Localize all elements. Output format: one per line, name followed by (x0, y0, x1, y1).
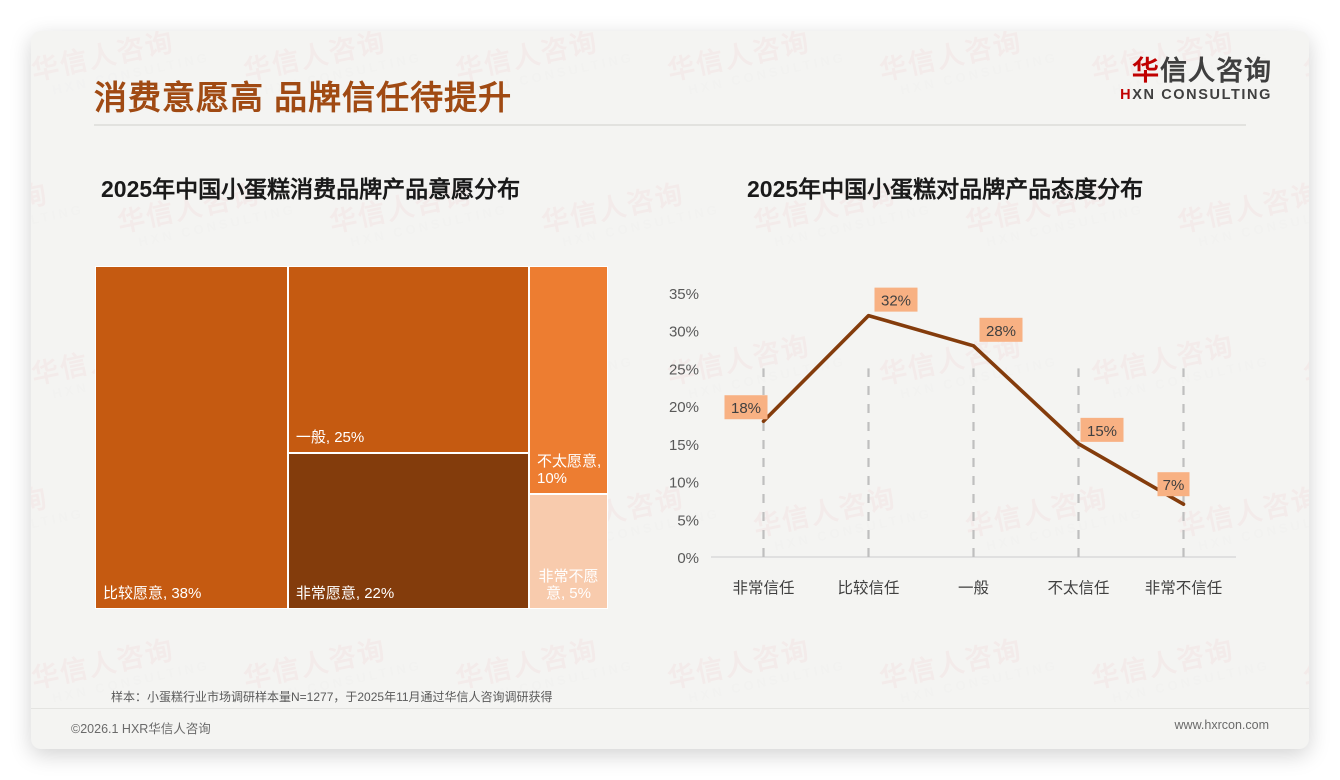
watermark-text: 华信人咨询HXN CONSULTING (1300, 31, 1309, 101)
watermark-text: 华信人咨询HXN CONSULTING (1174, 165, 1309, 253)
treemap-cell-label: 非常不愿意, 5% (534, 568, 603, 603)
data-label: 18% (731, 400, 761, 417)
line-chart: 0%5%10%15%20%25%30%35%18%32%28%15%7%非常信任… (639, 263, 1264, 619)
y-axis-tick-label: 30% (669, 324, 699, 341)
footer-website: www.hxrcon.com (1175, 718, 1269, 732)
data-label: 15% (1087, 423, 1117, 440)
company-logo: 华信人咨询 HXN CONSULTING (1120, 57, 1272, 104)
data-label: 7% (1163, 477, 1185, 494)
y-axis-tick-label: 25% (669, 361, 699, 378)
logo-chinese-rest: 信人咨询 (1160, 56, 1272, 86)
watermark-text: 华信人咨询HXN CONSULTING (1300, 317, 1309, 405)
watermark-text: 华信人咨询HXN CONSULTING (31, 165, 85, 253)
footer-divider (31, 708, 1309, 709)
treemap-cell-label: 非常愿意, 22% (296, 585, 524, 603)
logo-english-brand-char: H (1120, 87, 1132, 103)
slide-canvas: 华信人咨询HXN CONSULTING华信人咨询HXN CONSULTING华信… (31, 31, 1309, 749)
treemap-cell-label: 一般, 25% (296, 429, 524, 447)
x-axis-tick-label: 比较信任 (837, 579, 899, 597)
y-axis-tick-label: 0% (677, 550, 699, 567)
page-title: 消费意愿高 品牌信任待提升 (94, 71, 512, 119)
watermark-text: 华信人咨询HXN CONSULTING (1088, 621, 1272, 709)
y-axis-tick-label: 35% (669, 286, 699, 303)
treemap-cell[interactable]: 非常不愿意, 5% (529, 494, 608, 609)
data-label: 32% (881, 293, 911, 310)
watermark-text: 华信人咨询HXN CONSULTING (876, 621, 1060, 709)
footer-copyright: ©2026.1 HXR华信人咨询 (71, 718, 211, 737)
header-divider (94, 124, 1246, 126)
treemap-cell[interactable]: 一般, 25% (288, 266, 529, 453)
treemap-cell[interactable]: 比较愿意, 38% (95, 266, 288, 609)
x-axis-tick-label: 不太信任 (1047, 579, 1109, 597)
x-axis-tick-label: 非常不信任 (1145, 579, 1223, 597)
x-axis-tick-label: 一般 (958, 579, 989, 597)
x-axis-tick-label: 非常信任 (732, 579, 794, 597)
treemap-chart-title: 2025年中国小蛋糕消费品牌产品意愿分布 (101, 170, 520, 204)
watermark-text: 华信人咨询HXN CONSULTING (538, 165, 722, 253)
watermark-text: 华信人咨询HXN CONSULTING (664, 31, 848, 101)
treemap-cell[interactable]: 非常愿意, 22% (288, 453, 529, 609)
data-label: 28% (986, 323, 1016, 340)
sample-note: 样本：小蛋糕行业市场调研样本量N=1277，于2025年11月通过华信人咨询调研… (111, 688, 553, 705)
treemap-cell-label: 比较愿意, 38% (103, 585, 283, 603)
watermark-text: 华信人咨询HXN CONSULTING (876, 31, 1060, 101)
treemap-cell-label: 不太愿意, 10% (537, 453, 603, 488)
watermark-text: 华信人咨询HXN CONSULTING (664, 621, 848, 709)
treemap-cell[interactable]: 不太愿意, 10% (529, 266, 608, 494)
watermark-text: 华信人咨询HXN CONSULTING (1300, 621, 1309, 709)
treemap-chart: 比较愿意, 38%一般, 25%非常愿意, 22%不太愿意, 10%非常不愿意,… (95, 266, 608, 609)
logo-english-rest: XN CONSULTING (1132, 87, 1272, 103)
line-chart-title: 2025年中国小蛋糕对品牌产品态度分布 (747, 170, 1143, 204)
line-chart-svg: 0%5%10%15%20%25%30%35%18%32%28%15%7%非常信任… (639, 263, 1264, 619)
y-axis-tick-label: 5% (677, 512, 699, 529)
watermark-text: 华信人咨询HXN CONSULTING (31, 469, 85, 557)
y-axis-tick-label: 15% (669, 437, 699, 454)
y-axis-tick-label: 10% (669, 475, 699, 492)
logo-chinese: 华信人咨询 (1120, 57, 1272, 85)
y-axis-tick-label: 20% (669, 399, 699, 416)
logo-chinese-brand-char: 华 (1132, 56, 1160, 86)
logo-english: HXN CONSULTING (1120, 88, 1272, 103)
